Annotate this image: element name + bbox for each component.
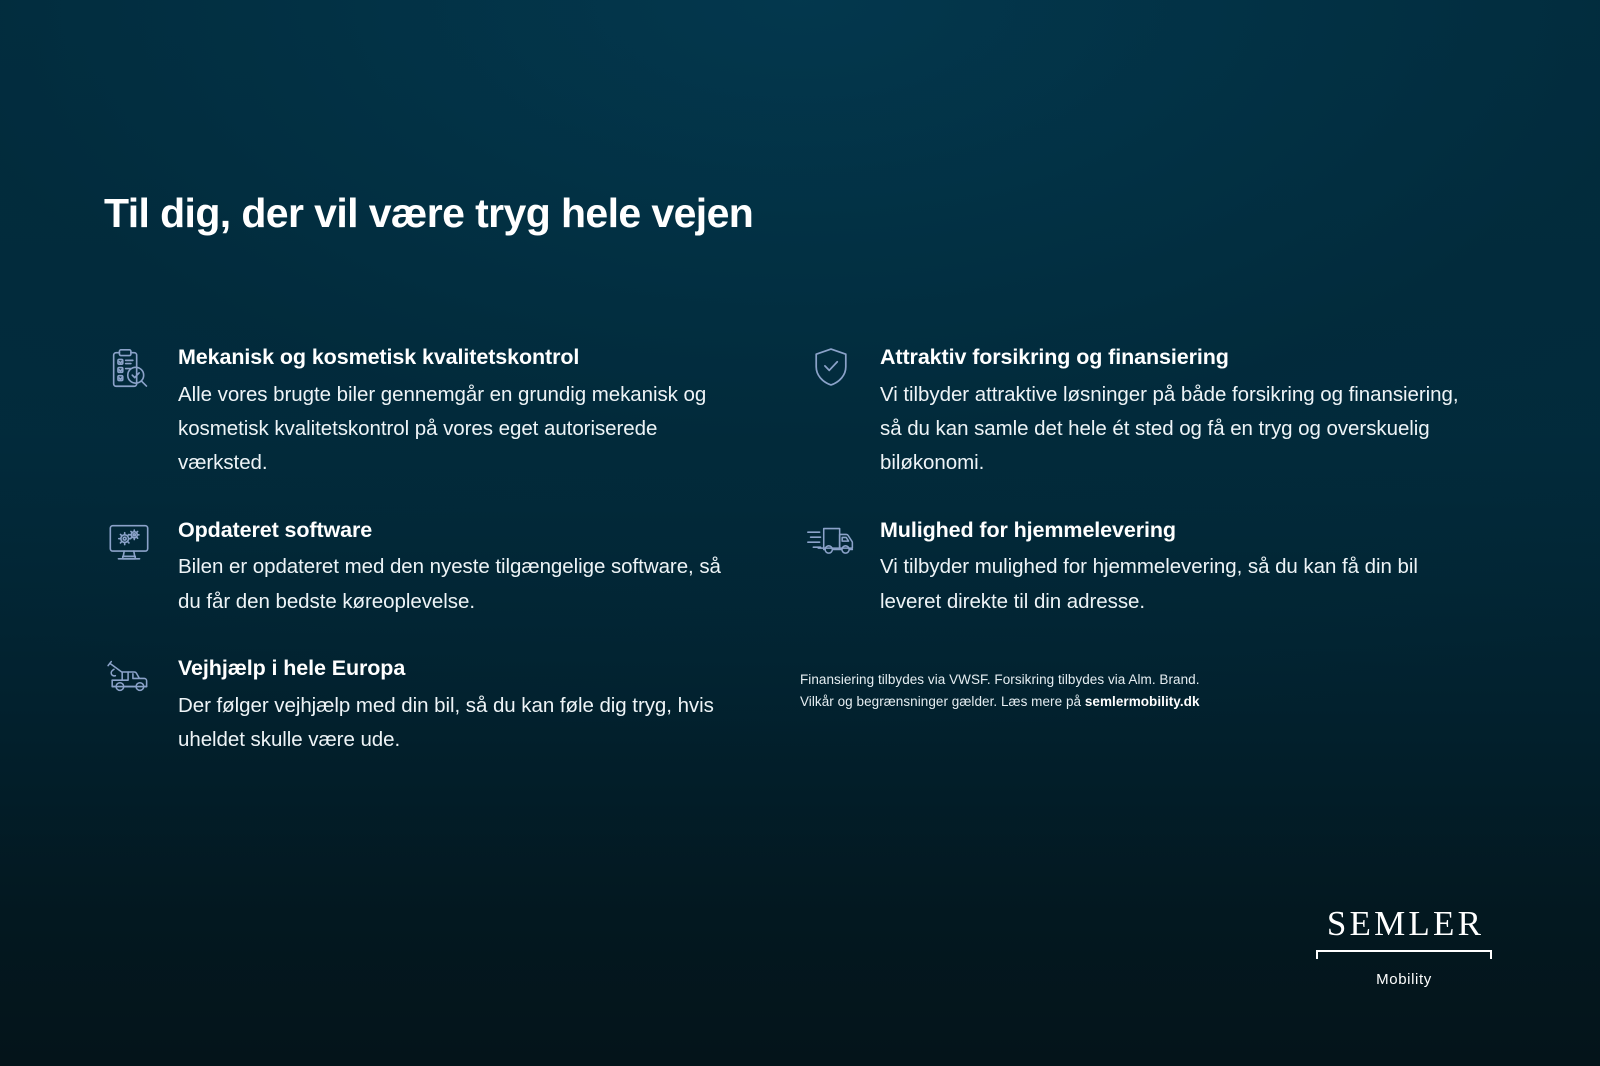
feature-item-insurance-financing: Attraktiv forsikring og finansiering Vi … bbox=[800, 344, 1480, 481]
shield-check-icon bbox=[800, 344, 862, 400]
logo-wordmark: SEMLER bbox=[1316, 906, 1492, 941]
feature-item-roadside-assistance: Vejhjælp i hele Europa Der følger vejhjæ… bbox=[98, 655, 738, 757]
feature-body: Vejhjælp i hele Europa Der følger vejhjæ… bbox=[178, 655, 738, 757]
feature-item-home-delivery: Mulighed for hjemmelevering Vi tilbyder … bbox=[800, 517, 1480, 619]
feature-title: Mekanisk og kosmetisk kvalitetskontrol bbox=[178, 344, 738, 371]
feature-item-quality-control: Mekanisk og kosmetisk kvalitetskontrol A… bbox=[98, 344, 738, 481]
clipboard-checklist-magnifier-icon bbox=[98, 344, 160, 400]
monitor-gears-icon bbox=[98, 517, 160, 573]
feature-description: Alle vores brugte biler gennemgår en gru… bbox=[178, 378, 738, 481]
feature-body: Mekanisk og kosmetisk kvalitetskontrol A… bbox=[178, 344, 738, 481]
feature-title: Mulighed for hjemmelevering bbox=[880, 517, 1480, 544]
feature-column-left: Mekanisk og kosmetisk kvalitetskontrol A… bbox=[98, 344, 738, 757]
poster-canvas: Til dig, der vil være tryg hele vejen bbox=[0, 0, 1600, 1066]
semler-mobility-logo: SEMLER Mobility bbox=[1316, 906, 1492, 988]
tow-truck-icon bbox=[98, 655, 160, 711]
feature-title: Attraktiv forsikring og finansiering bbox=[880, 344, 1480, 371]
logo-subtitle: Mobility bbox=[1316, 971, 1492, 988]
feature-body: Mulighed for hjemmelevering Vi tilbyder … bbox=[880, 517, 1480, 619]
disclaimer-line-1: Finansiering tilbydes via VWSF. Forsikri… bbox=[800, 669, 1480, 691]
feature-title: Vejhjælp i hele Europa bbox=[178, 655, 738, 682]
semlermobility-link[interactable]: semlermobility.dk bbox=[1085, 694, 1200, 709]
feature-item-updated-software: Opdateret software Bilen er opdateret me… bbox=[98, 517, 738, 619]
feature-description: Vi tilbyder attraktive løsninger på både… bbox=[880, 378, 1480, 481]
disclaimer-line-2: Vilkår og begrænsninger gælder. Læs mere… bbox=[800, 691, 1480, 713]
delivery-truck-icon bbox=[800, 517, 862, 573]
feature-body: Opdateret software Bilen er opdateret me… bbox=[178, 517, 738, 619]
legal-disclaimer: Finansiering tilbydes via VWSF. Forsikri… bbox=[800, 669, 1480, 713]
disclaimer-line-2-prefix: Vilkår og begrænsninger gælder. Læs mere… bbox=[800, 694, 1085, 709]
feature-description: Bilen er opdateret med den nyeste tilgæn… bbox=[178, 550, 738, 618]
feature-title: Opdateret software bbox=[178, 517, 738, 544]
feature-column-right: Attraktiv forsikring og finansiering Vi … bbox=[800, 344, 1480, 713]
page-title: Til dig, der vil være tryg hele vejen bbox=[104, 190, 753, 237]
logo-bracket-rule bbox=[1316, 950, 1492, 962]
feature-description: Der følger vejhjælp med din bil, så du k… bbox=[178, 689, 738, 757]
feature-description: Vi tilbyder mulighed for hjemmelevering,… bbox=[880, 550, 1480, 618]
feature-body: Attraktiv forsikring og finansiering Vi … bbox=[880, 344, 1480, 481]
